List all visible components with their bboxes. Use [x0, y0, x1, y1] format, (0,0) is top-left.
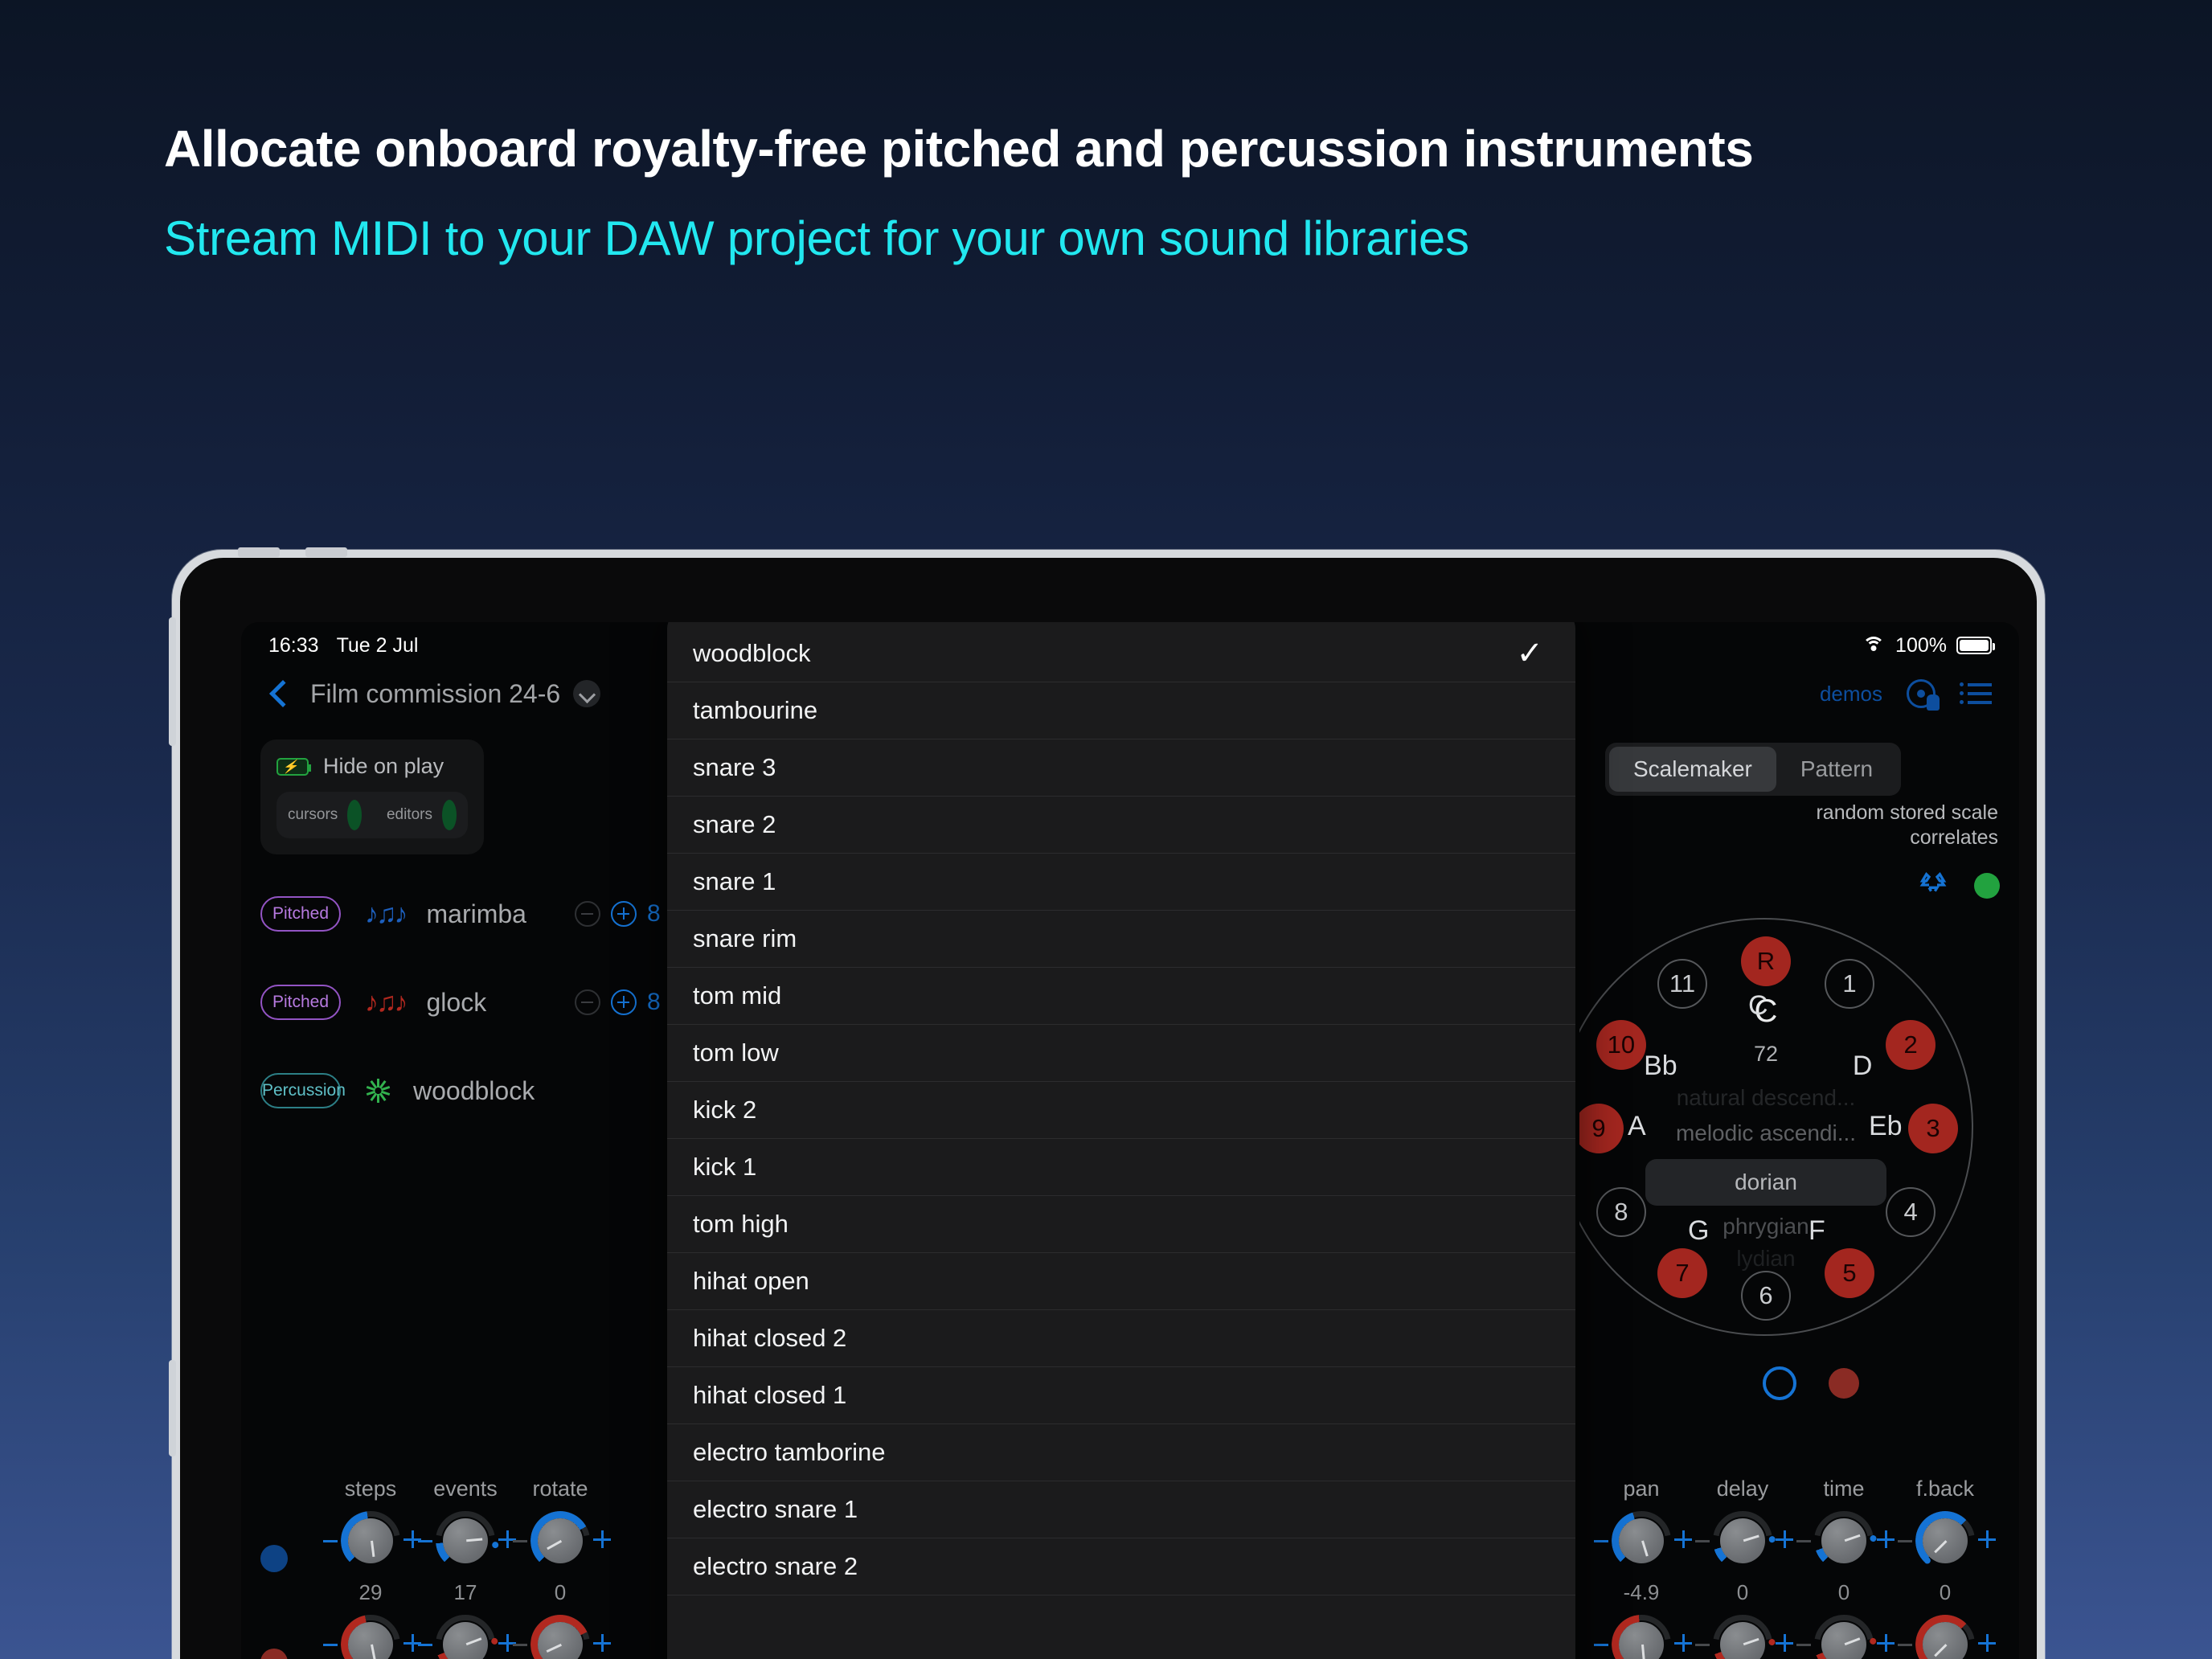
knob-increment[interactable]: [1674, 1634, 1692, 1652]
mode-option-next2[interactable]: lydian: [1579, 1246, 1975, 1272]
knob-dial[interactable]: [1915, 1615, 1975, 1659]
knob-control[interactable]: 0: [1895, 1511, 1996, 1605]
knob-decrement[interactable]: [418, 1540, 432, 1542]
list-item-label: woodblock: [693, 639, 810, 668]
knob-dial[interactable]: [530, 1615, 590, 1659]
instrument-dropdown-list[interactable]: woodblock✓tambourinesnare 3snare 2snare …: [667, 625, 1575, 1596]
knob-value: 0: [513, 1580, 608, 1605]
track-color-dot[interactable]: [260, 1545, 288, 1572]
knob-increment[interactable]: [1776, 1634, 1793, 1652]
knob-decrement[interactable]: [1898, 1540, 1912, 1542]
track-row[interactable]: Pitched ♪♫♪ glock 8: [260, 973, 727, 1031]
list-item[interactable]: kick 2: [667, 1082, 1575, 1139]
list-item-label: tambourine: [693, 696, 817, 725]
knob-header-events: events: [418, 1477, 513, 1501]
scale-degree-node[interactable]: 7: [1657, 1248, 1707, 1298]
left-knob-row: 28122: [260, 1615, 711, 1659]
list-item-label: snare 1: [693, 867, 776, 896]
scale-note-label: C: [1748, 990, 1768, 1022]
status-time: 16:33: [268, 634, 319, 657]
list-item-label: electro snare 1: [693, 1495, 858, 1524]
list-item-label: snare 2: [693, 810, 776, 839]
knob-increment[interactable]: [1877, 1634, 1895, 1652]
plus-circle-icon[interactable]: [611, 901, 637, 927]
knob-value: 0: [1895, 1580, 1996, 1605]
knob-cap[interactable]: [443, 1518, 488, 1563]
tab-scalemaker[interactable]: Scalemaker: [1609, 747, 1776, 792]
knob-dial[interactable]: [341, 1615, 400, 1659]
list-item-label: electro tamborine: [693, 1438, 886, 1467]
scale-degree-node[interactable]: 4: [1886, 1187, 1935, 1237]
list-item-label: tom mid: [693, 981, 781, 1010]
list-item-label: tom low: [693, 1038, 779, 1067]
list-item[interactable]: hihat open: [667, 1253, 1575, 1310]
plus-circle-icon[interactable]: [611, 989, 637, 1015]
scale-wheel[interactable]: C 72 natural descend... melodic ascendi.…: [1579, 918, 1973, 1336]
knob-increment[interactable]: [1978, 1634, 1996, 1652]
knob-cap[interactable]: [1720, 1518, 1765, 1563]
knob-decrement[interactable]: [513, 1540, 527, 1542]
list-item-label: hihat closed 2: [693, 1324, 846, 1353]
knob-increment[interactable]: [1877, 1530, 1895, 1548]
music-notes-icon: ♪♫♪: [365, 900, 406, 928]
list-item-label: kick 2: [693, 1096, 756, 1124]
knob-decrement[interactable]: [323, 1644, 338, 1646]
knob-decrement[interactable]: [513, 1644, 527, 1646]
knob-control[interactable]: 2: [513, 1615, 608, 1659]
scale-note-label: D: [1853, 1051, 1873, 1082]
list-item[interactable]: hihat closed 1: [667, 1367, 1575, 1424]
scale-note-label: G: [1688, 1215, 1709, 1247]
hide-on-play-title: Hide on play: [323, 754, 444, 779]
scale-note-label: A: [1628, 1111, 1646, 1142]
tablet-top-button-a[interactable]: [238, 547, 280, 557]
knob-cap[interactable]: [1821, 1518, 1866, 1563]
tab-pattern[interactable]: Pattern: [1776, 747, 1897, 792]
scale-note-label: F: [1809, 1215, 1825, 1247]
knob-header-pan: pan: [1591, 1477, 1692, 1501]
list-item[interactable]: kick 1: [667, 1139, 1575, 1196]
left-knob-row: 29170: [260, 1511, 711, 1605]
tablet-device-frame: 16:33 Tue 2 Jul 100% Film commission 24-…: [172, 550, 2045, 1659]
track-count: 8: [647, 900, 665, 928]
knob-control[interactable]: 12: [418, 1615, 513, 1659]
scale-degree-node[interactable]: 8: [1596, 1187, 1646, 1237]
list-item[interactable]: tom high: [667, 1196, 1575, 1253]
knob-increment[interactable]: [593, 1530, 611, 1548]
track-color-dot[interactable]: [260, 1649, 288, 1659]
headline-secondary: Stream MIDI to your DAW project for your…: [164, 212, 2173, 265]
knob-header-fback: f.back: [1895, 1477, 1996, 1501]
scale-degree-node[interactable]: 5: [1825, 1248, 1874, 1298]
mode-selected[interactable]: dorian: [1645, 1159, 1886, 1206]
status-badge[interactable]: [1974, 873, 2000, 899]
editors-toggle-label: editors: [387, 806, 432, 824]
cursors-toggle[interactable]: [347, 800, 362, 830]
knob-dial[interactable]: [1713, 1615, 1772, 1659]
checkmark-icon: ✓: [1516, 637, 1543, 670]
knob-dial[interactable]: [341, 1511, 400, 1571]
left-panel: ⚡ Hide on play cursors editors Pitched ♪…: [241, 723, 727, 1659]
knob-dial[interactable]: [1814, 1511, 1874, 1571]
knob-value: 0: [1692, 1580, 1793, 1605]
scale-degree-node[interactable]: 10: [1596, 1020, 1646, 1070]
chevron-down-icon[interactable]: [573, 680, 600, 707]
minus-circle-icon[interactable]: [575, 901, 600, 927]
knob-control[interactable]: 17: [418, 1511, 513, 1605]
page-title: Film commission 24-6: [310, 679, 560, 709]
list-item[interactable]: snare 1: [667, 854, 1575, 911]
knob-dial[interactable]: [1713, 1511, 1772, 1571]
right-knob-row: 5.1000: [1591, 1615, 2009, 1659]
knob-decrement[interactable]: [1796, 1644, 1811, 1646]
music-notes-icon: ♪♫♪: [365, 989, 406, 1016]
battery-full-icon: [1956, 637, 1992, 654]
right-knob-row: -4.9000: [1591, 1511, 2009, 1605]
knob-header-rotate: rotate: [513, 1477, 608, 1501]
tablet-top-button-b[interactable]: [305, 547, 347, 557]
knob-increment[interactable]: [1978, 1530, 1996, 1548]
list-item[interactable]: tambourine: [667, 682, 1575, 739]
list-item-label: kick 1: [693, 1153, 756, 1182]
knob-control[interactable]: 5.1: [1591, 1615, 1692, 1659]
knob-header-steps: steps: [323, 1477, 418, 1501]
scale-degree-node[interactable]: 11: [1657, 959, 1707, 1009]
knob-control[interactable]: 0: [1692, 1615, 1793, 1659]
knob-dial[interactable]: [1612, 1511, 1671, 1571]
left-knob-headers: steps events rotate: [260, 1477, 711, 1501]
mode-option-above[interactable]: natural descend...: [1579, 1085, 1975, 1111]
right-tab-group: Scalemaker Pattern: [1605, 743, 1901, 796]
list-item[interactable]: snare rim: [667, 911, 1575, 968]
knob-increment[interactable]: [593, 1634, 611, 1652]
wifi-icon: [1862, 637, 1886, 654]
knob-value: -4.9: [1591, 1580, 1692, 1605]
track-count: 8: [647, 989, 665, 1016]
knob-value: 17: [418, 1580, 513, 1605]
right-knob-section: pan delay time f.back -4.9000 5.1000: [1591, 1477, 2009, 1659]
knob-control[interactable]: 0: [513, 1511, 608, 1605]
headline-block: Allocate onboard royalty-free pitched an…: [164, 121, 2173, 265]
list-item[interactable]: tom low: [667, 1025, 1575, 1082]
knob-dial[interactable]: [1915, 1511, 1975, 1571]
percussion-burst-icon: [365, 1077, 392, 1104]
track-kind-badge[interactable]: Pitched: [260, 896, 341, 932]
scale-degree-node[interactable]: 1: [1825, 959, 1874, 1009]
knob-control[interactable]: 0: [1895, 1615, 1996, 1659]
list-item-label: electro snare 2: [693, 1552, 858, 1581]
random-scale-label: random stored scale correlates: [1733, 801, 1998, 851]
record-tap-icon[interactable]: [1907, 679, 1935, 708]
cursors-toggle-label: cursors: [288, 806, 338, 824]
knob-header-delay: delay: [1692, 1477, 1793, 1501]
instrument-dropdown[interactable]: woodblock✓tambourinesnare 3snare 2snare …: [667, 622, 1575, 1659]
battery-charging-icon: ⚡: [276, 758, 309, 776]
knob-dial[interactable]: [530, 1511, 590, 1571]
list-item[interactable]: woodblock✓: [667, 625, 1575, 682]
knob-control[interactable]: -4.9: [1591, 1511, 1692, 1605]
list-icon[interactable]: [1960, 682, 1992, 706]
status-date: Tue 2 Jul: [337, 634, 419, 657]
track-kind-badge[interactable]: Pitched: [260, 985, 341, 1020]
tablet-bezel: 16:33 Tue 2 Jul 100% Film commission 24-…: [180, 558, 2037, 1659]
scale-note-label: Eb: [1869, 1111, 1903, 1142]
status-battery-percent: 100%: [1895, 634, 1947, 657]
right-panel: Scalemaker Pattern random stored scale c…: [1579, 723, 2019, 1659]
scale-degree-node[interactable]: 2: [1886, 1020, 1935, 1070]
knob-decrement[interactable]: [1796, 1540, 1811, 1542]
scale-degree-node[interactable]: 6: [1741, 1271, 1791, 1321]
left-knob-section: steps events rotate 29170 28122: [260, 1477, 711, 1659]
random-scale-line1: random stored scale: [1733, 801, 1998, 825]
chevron-left-icon[interactable]: [268, 678, 289, 710]
list-item-label: tom high: [693, 1210, 789, 1239]
list-item-label: snare rim: [693, 924, 797, 953]
track-row[interactable]: Pitched ♪♫♪ marimba 8: [260, 885, 727, 943]
hide-on-play-card: ⚡ Hide on play cursors editors: [260, 739, 484, 854]
list-item[interactable]: snare 2: [667, 797, 1575, 854]
list-item[interactable]: electro snare 1: [667, 1481, 1575, 1538]
knob-decrement[interactable]: [1594, 1644, 1608, 1646]
scale-note-label: Bb: [1644, 1051, 1677, 1082]
list-item[interactable]: tom mid: [667, 968, 1575, 1025]
knob-control[interactable]: 0: [1793, 1615, 1895, 1659]
track-name[interactable]: glock: [427, 988, 487, 1018]
knob-decrement[interactable]: [418, 1644, 432, 1646]
knob-increment[interactable]: [1674, 1530, 1692, 1548]
knob-control[interactable]: 29: [323, 1511, 418, 1605]
track-name[interactable]: marimba: [427, 899, 526, 929]
knob-value: 29: [323, 1580, 418, 1605]
track-name[interactable]: woodblock: [413, 1076, 535, 1106]
list-item-label: hihat open: [693, 1267, 809, 1296]
list-item[interactable]: electro snare 2: [667, 1538, 1575, 1596]
knob-dial[interactable]: [436, 1511, 495, 1571]
recycle-icon[interactable]: [1915, 865, 1952, 897]
editors-toggle[interactable]: [442, 800, 457, 830]
knob-value: 0: [1793, 1580, 1895, 1605]
knob-decrement[interactable]: [1695, 1644, 1710, 1646]
knob-decrement[interactable]: [1695, 1540, 1710, 1542]
list-item[interactable]: snare 3: [667, 739, 1575, 797]
knob-dial[interactable]: [1612, 1615, 1671, 1659]
headline-primary: Allocate onboard royalty-free pitched an…: [164, 121, 2173, 177]
knob-dial[interactable]: [1814, 1615, 1874, 1659]
knob-decrement[interactable]: [1898, 1644, 1912, 1646]
scale-degree-node[interactable]: 3: [1908, 1104, 1958, 1153]
right-knob-headers: pan delay time f.back: [1591, 1477, 2009, 1501]
tablet-side-button[interactable]: [169, 1360, 176, 1456]
tablet-volume-button[interactable]: [169, 617, 176, 746]
track-row[interactable]: Percussion woodblock: [260, 1062, 727, 1120]
list-item-label: snare 3: [693, 753, 776, 782]
tablet-screen: 16:33 Tue 2 Jul 100% Film commission 24-…: [241, 622, 2019, 1659]
red-ball-marker[interactable]: [1829, 1368, 1859, 1399]
random-scale-line2: correlates: [1733, 825, 1998, 850]
list-item-label: hihat closed 1: [693, 1381, 846, 1410]
knob-dial[interactable]: [436, 1615, 495, 1659]
knob-control[interactable]: 28: [323, 1615, 418, 1659]
knob-decrement[interactable]: [323, 1540, 338, 1542]
knob-control[interactable]: 0: [1793, 1511, 1895, 1605]
knob-control[interactable]: 0: [1692, 1511, 1793, 1605]
blue-ring-marker[interactable]: [1763, 1366, 1796, 1400]
scale-degree-node[interactable]: R: [1741, 936, 1791, 986]
list-item[interactable]: electro tamborine: [667, 1424, 1575, 1481]
track-kind-badge[interactable]: Percussion: [260, 1073, 341, 1108]
demos-label[interactable]: demos: [1820, 682, 1882, 707]
list-item[interactable]: hihat closed 2: [667, 1310, 1575, 1367]
knob-increment[interactable]: [1776, 1530, 1793, 1548]
knob-decrement[interactable]: [1594, 1540, 1608, 1542]
knob-header-time: time: [1793, 1477, 1895, 1501]
minus-circle-icon[interactable]: [575, 989, 600, 1015]
